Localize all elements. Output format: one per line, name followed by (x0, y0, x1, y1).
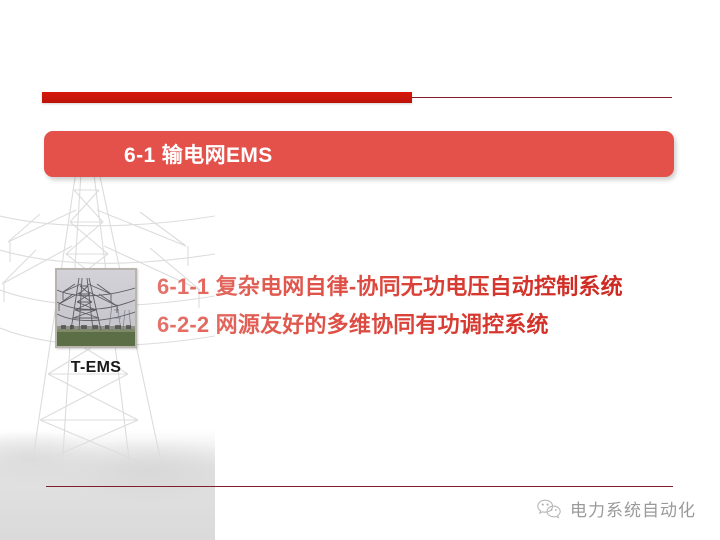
top-accent-bar (42, 92, 412, 103)
watermark-label: 电力系统自动化 (570, 496, 696, 521)
thumbnail-block: T-EMS (55, 268, 137, 377)
background-hill (0, 454, 215, 540)
thumbnail-caption: T-EMS (55, 359, 137, 377)
heading-line-2: 6-2-2 网源友好的多维协同有功调控系统 (157, 306, 687, 344)
bottom-hairline-rule (46, 486, 673, 487)
transmission-tower-photo-icon (55, 268, 137, 348)
slide-canvas: 6-1 输电网EMS (0, 0, 720, 540)
watermark-block: 电力系统自动化 (536, 496, 696, 521)
section-title-label: 6-1 输电网EMS (124, 139, 273, 169)
background-ground (0, 430, 215, 540)
heading-line-1: 6-1-1 复杂电网自律-协同无功电压自动控制系统 (157, 268, 687, 306)
wechat-icon (536, 498, 562, 520)
top-hairline-rule (412, 97, 672, 98)
heading-list: 6-1-1 复杂电网自律-协同无功电压自动控制系统 6-2-2 网源友好的多维协… (157, 268, 687, 344)
section-title-bar: 6-1 输电网EMS (44, 131, 674, 177)
